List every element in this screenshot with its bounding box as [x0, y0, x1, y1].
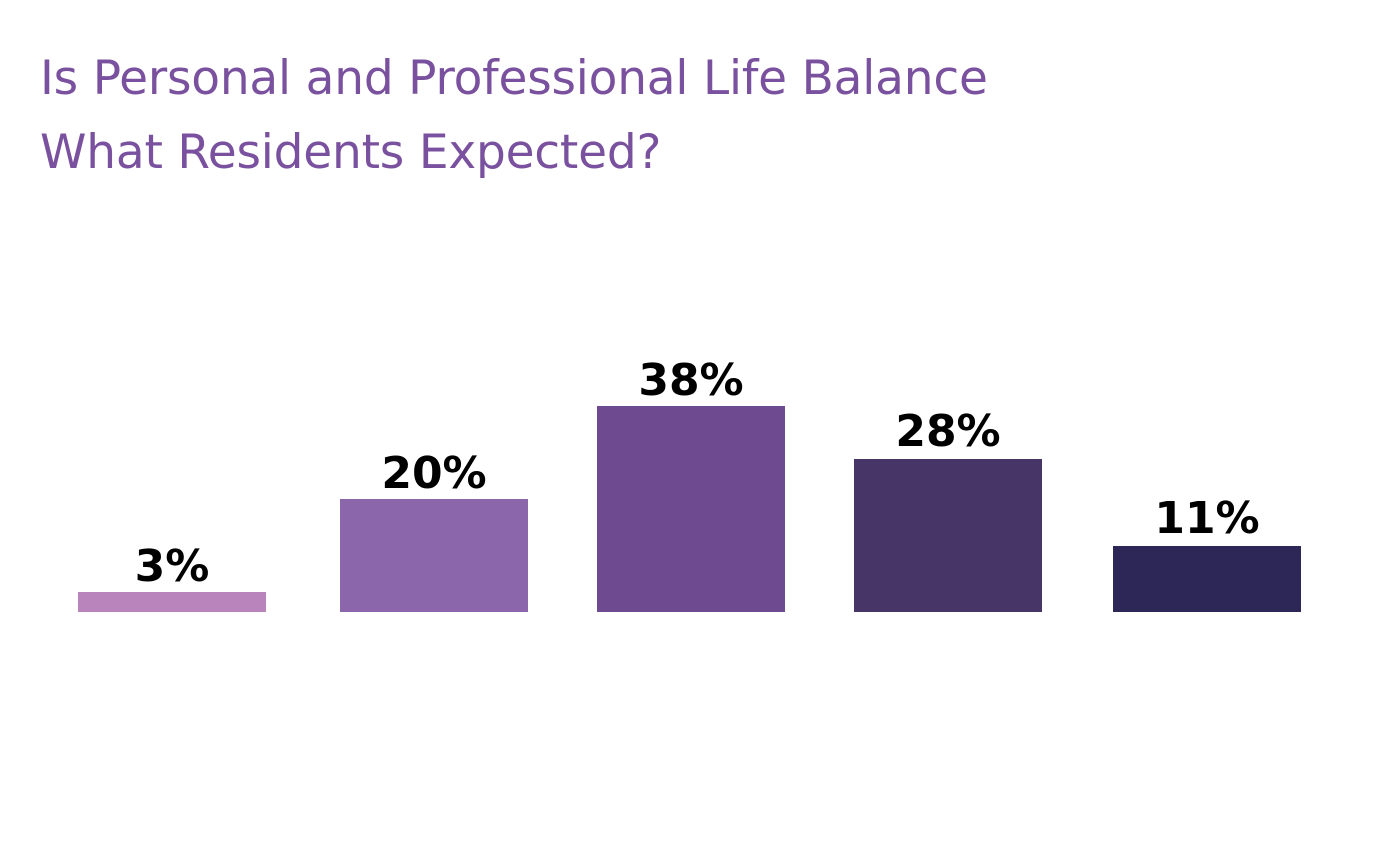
bar-value-label-much-better: 3%: [78, 543, 266, 591]
bar-neither-better-nor-worse[interactable]: [597, 406, 785, 612]
bar-value-label-neither-better-nor-worse: 38%: [597, 357, 785, 405]
bar-value-label-somewhat-better: 20%: [340, 450, 528, 498]
bar-somewhat-worse[interactable]: [854, 459, 1042, 612]
bar-value-label-much-worse: 11%: [1113, 495, 1301, 543]
bar-somewhat-better[interactable]: [340, 499, 528, 612]
bar-much-worse[interactable]: [1113, 546, 1301, 612]
bar-value-label-somewhat-worse: 28%: [854, 408, 1042, 456]
bar-much-better[interactable]: [78, 592, 266, 612]
bar-chart-plot-area: 3% Much better 20% Somewhat better 38% N…: [0, 0, 1380, 853]
slide-canvas: Is Personal and Professional Life Balanc…: [0, 0, 1380, 853]
